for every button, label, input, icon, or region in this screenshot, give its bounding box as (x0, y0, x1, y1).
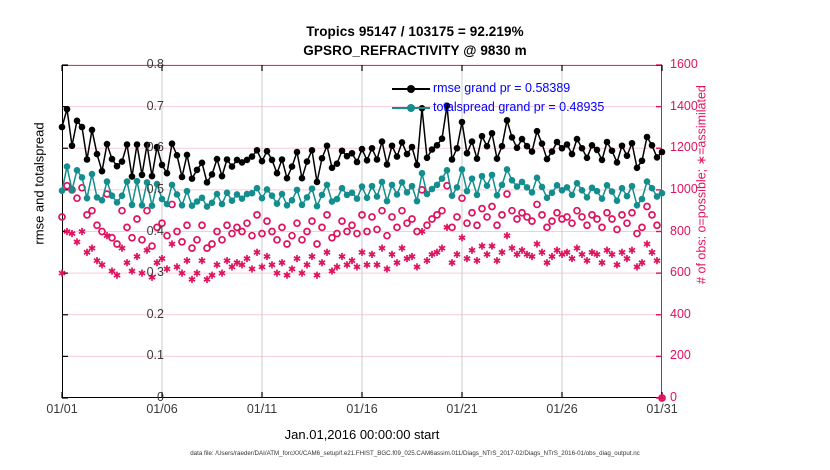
y-tick-right-3: 600 (670, 265, 730, 279)
legend-marker-rmse (392, 83, 430, 94)
legend-item-totalspread: totalspread grand pr = 0.48935 (392, 98, 604, 117)
y-tick-left-2: 0.2 (110, 307, 164, 321)
y-tick-left-7: 0.7 (110, 99, 164, 113)
x-tick-1: 01/06 (132, 402, 192, 416)
legend-marker-totalspread (392, 102, 430, 113)
x-tick-3: 01/16 (332, 402, 392, 416)
chart-legend: rmse grand pr = 0.58389 totalspread gran… (392, 79, 604, 117)
x-tick-6: 01/31 (632, 402, 692, 416)
y-tick-right-5: 1000 (670, 182, 730, 196)
title-line-1: Tropics 95147 / 103175 = 92.219% (0, 22, 830, 41)
legend-label-rmse: rmse grand pr = 0.58389 (433, 79, 570, 98)
x-tick-5: 01/26 (532, 402, 592, 416)
y-tick-left-4: 0.4 (110, 224, 164, 238)
figure-canvas: Tropics 95147 / 103175 = 92.219% GPSRO_R… (0, 0, 830, 470)
data-file-footer: data file: /Users/raeder/DAI/ATM_forcXX/… (0, 450, 830, 457)
y-tick-left-8: 0.8 (110, 57, 164, 71)
y-tick-left-1: 0.1 (110, 348, 164, 362)
chart-title: Tropics 95147 / 103175 = 92.219% GPSRO_R… (0, 22, 830, 60)
x-tick-2: 01/11 (232, 402, 292, 416)
y-tick-right-6: 1200 (670, 140, 730, 154)
y-tick-right-1: 200 (670, 348, 730, 362)
y-tick-right-8: 1600 (670, 57, 730, 71)
x-tick-4: 01/21 (432, 402, 492, 416)
legend-item-rmse: rmse grand pr = 0.58389 (392, 79, 604, 98)
y-tick-right-4: 800 (670, 224, 730, 238)
x-axis-label: Jan.01,2016 00:00:00 start (62, 427, 662, 442)
y-tick-left-5: 0.5 (110, 182, 164, 196)
x-tick-0: 01/01 (32, 402, 92, 416)
y-axis-label-left: rmse and totalspread (32, 59, 47, 309)
y-tick-left-3: 0.3 (110, 265, 164, 279)
y-tick-right-7: 1400 (670, 99, 730, 113)
y-tick-right-2: 400 (670, 307, 730, 321)
y-tick-left-6: 0.6 (110, 140, 164, 154)
legend-label-totalspread: totalspread grand pr = 0.48935 (433, 98, 604, 117)
